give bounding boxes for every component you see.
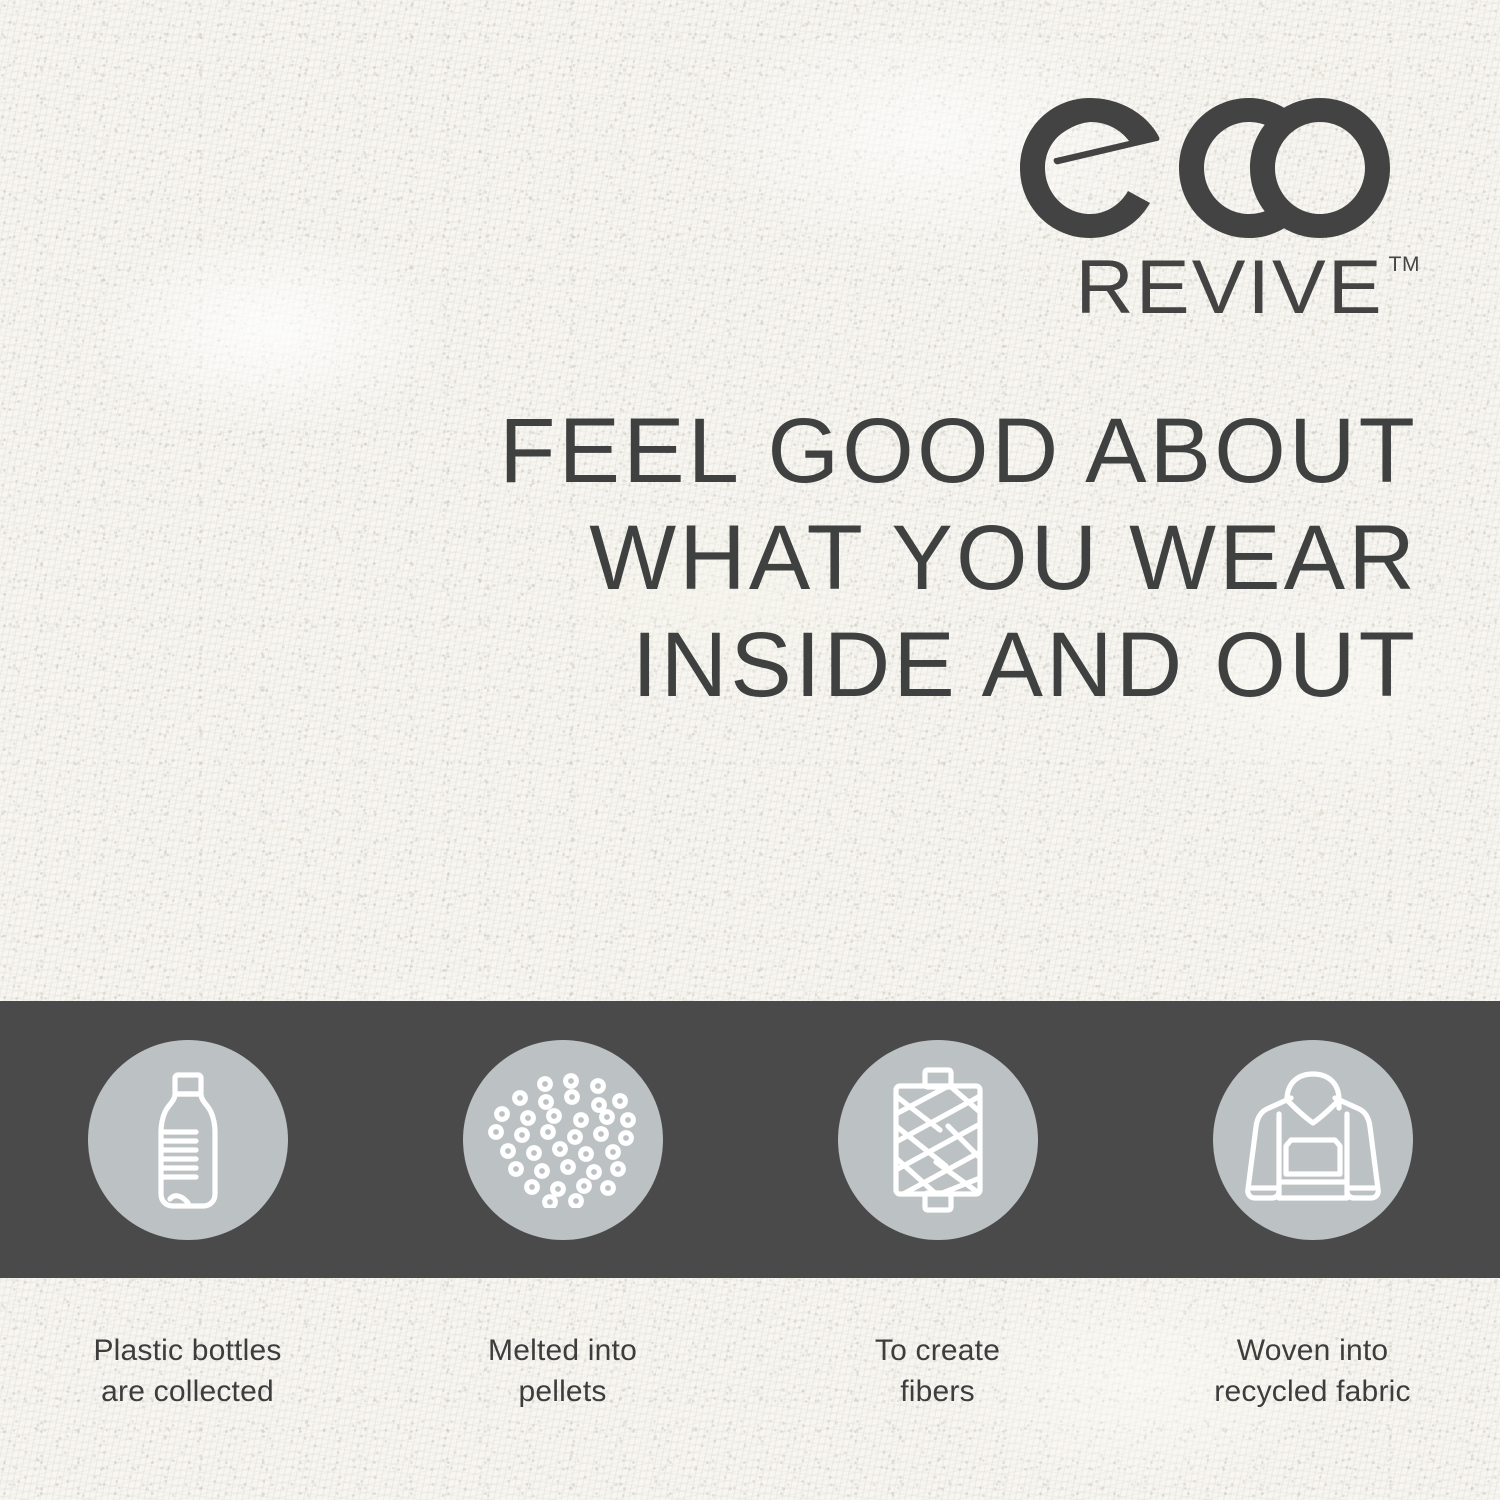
icon-circle-hoodie: [1213, 1040, 1413, 1240]
process-caption-4: Woven into recycled fabric: [1125, 1330, 1500, 1412]
wordmark-row: REVIVE TM: [1020, 250, 1420, 326]
process-captions-row: Plastic bottles are collected Melted int…: [0, 1330, 1500, 1412]
headline-line-3: INSIDE AND OUT: [0, 612, 1418, 719]
caption-4-line-1: Woven into: [1125, 1330, 1500, 1371]
process-icon-band: [0, 1001, 1500, 1278]
eco-logo-mark: [1020, 96, 1420, 242]
icon-circle-pellets: [463, 1040, 663, 1240]
icon-circle-bottle: [88, 1040, 288, 1240]
caption-3-line-1: To create: [750, 1330, 1125, 1371]
brand-wordmark: REVIVE: [1075, 250, 1383, 326]
hoodie-icon: [1239, 1070, 1387, 1210]
caption-2-line-1: Melted into: [375, 1330, 750, 1371]
process-icon-row: [0, 1001, 1500, 1278]
caption-4-line-2: recycled fabric: [1125, 1371, 1500, 1412]
headline-line-2: WHAT YOU WEAR: [0, 505, 1418, 612]
plastic-pellets-icon: [488, 1072, 638, 1208]
caption-3-line-2: fibers: [750, 1371, 1125, 1412]
process-step-4: [1125, 1040, 1500, 1240]
process-caption-3: To create fibers: [750, 1330, 1125, 1412]
process-step-1: [0, 1040, 375, 1240]
brand-logo: REVIVE TM: [1020, 96, 1420, 326]
caption-1-line-2: are collected: [0, 1371, 375, 1412]
process-step-3: [750, 1040, 1125, 1240]
process-caption-2: Melted into pellets: [375, 1330, 750, 1412]
poster-canvas: REVIVE TM FEEL GOOD ABOUT WHAT YOU WEAR …: [0, 0, 1500, 1500]
thread-spool-icon: [878, 1066, 998, 1214]
trademark-symbol: TM: [1389, 254, 1420, 275]
plastic-bottle-icon: [126, 1070, 250, 1210]
caption-2-line-2: pellets: [375, 1371, 750, 1412]
page-headline: FEEL GOOD ABOUT WHAT YOU WEAR INSIDE AND…: [0, 398, 1418, 719]
caption-1-line-1: Plastic bottles: [0, 1330, 375, 1371]
headline-line-1: FEEL GOOD ABOUT: [0, 398, 1418, 505]
icon-circle-spool: [838, 1040, 1038, 1240]
process-caption-1: Plastic bottles are collected: [0, 1330, 375, 1412]
process-step-2: [375, 1040, 750, 1240]
